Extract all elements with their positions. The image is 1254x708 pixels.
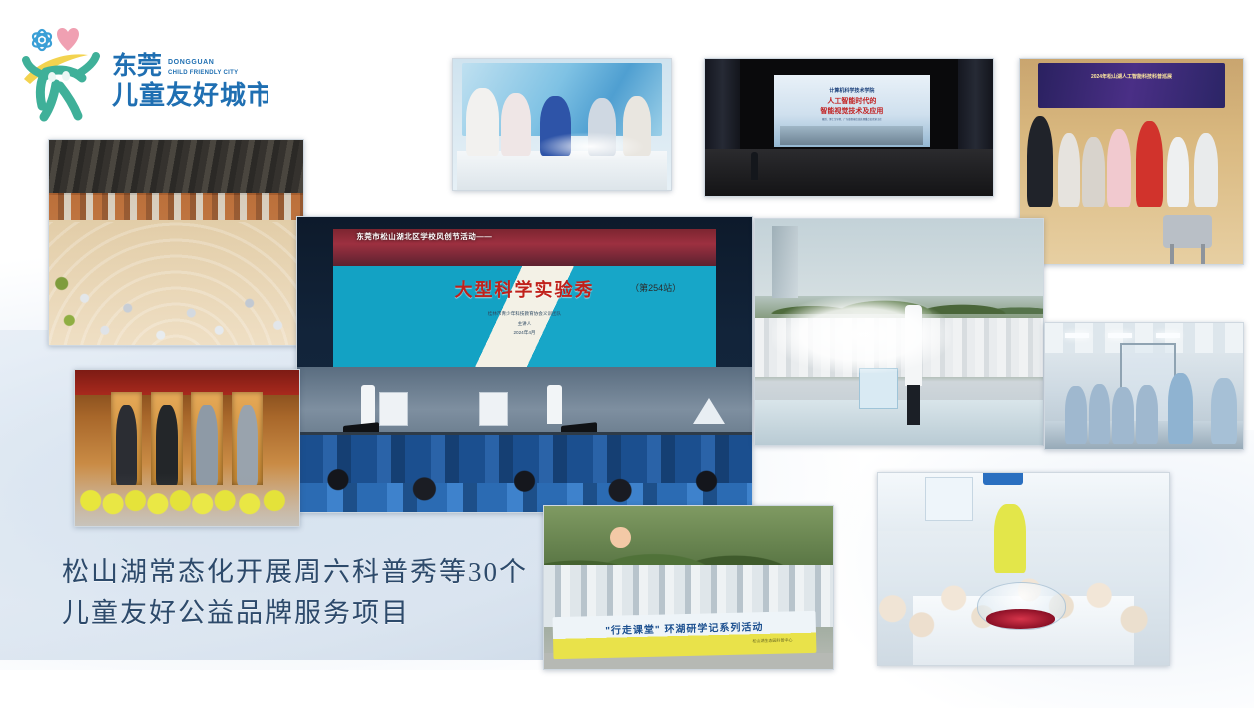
child-figure-icon	[26, 56, 96, 117]
study-trip-banner-text: "行走课堂" 环湖研学记系列活动	[552, 616, 815, 637]
robot-banner-text: 2024年松山湖人工智能科技科普巡展	[1020, 73, 1243, 80]
photo-gymnasium-science-fair[interactable]	[48, 139, 304, 346]
logo-en-line2: CHILD FRIENDLY CITY	[168, 70, 238, 76]
figure-eye-left	[48, 72, 56, 82]
ai-slide-title: 人工智能时代的 智能视觉技术及应用	[774, 97, 930, 118]
photo-dry-ice-classroom-demo[interactable]	[452, 58, 672, 191]
logo-en-line1: DONGGUAN	[168, 59, 214, 66]
show-slide-header: 东莞市松山湖北区学校风创节活动——	[356, 231, 492, 242]
study-trip-banner-sub: 松山湖生态园科普中心	[752, 637, 792, 644]
figure-eye-right	[62, 71, 70, 81]
show-slide-sub: 桂林市青少年科技教育协会义训团队 主讲人 2024年4月	[333, 309, 715, 338]
photo-outdoor-fog-experiment[interactable]	[754, 218, 1044, 446]
slide-caption: 松山湖常态化开展周六科普秀等30个 儿童友好公益品牌服务项目	[62, 552, 542, 634]
logo-cn-line2: 儿童友好城市	[112, 80, 268, 110]
logo-cn-line1: 东莞	[112, 51, 162, 80]
ai-slide-institute: 计算机科学技术学院	[774, 87, 930, 94]
photo-large-science-show-auditorium[interactable]: 东莞市松山湖北区学校风创节活动—— 大型科学实验秀 （第254站） 桂林市青少年…	[296, 216, 753, 513]
ai-slide-note: 教授、博士生导师、广东省智能信息处理重点实验室主任	[787, 118, 918, 122]
photo-cleanroom-factory-tour[interactable]	[1044, 322, 1244, 450]
atom-nucleus	[40, 38, 45, 43]
photo-plasma-ball-exhibit[interactable]	[877, 472, 1170, 666]
slide-canvas: 东莞 DONGGUAN CHILD FRIENDLY CITY 儿童友好城市	[0, 0, 1254, 708]
brand-logo: 东莞 DONGGUAN CHILD FRIENDLY CITY 儿童友好城市	[16, 24, 268, 124]
photo-ai-lecture-auditorium[interactable]: 计算机科学技术学院 人工智能时代的 智能视觉技术及应用 教授、博士生导师、广东省…	[704, 58, 994, 197]
heart-icon	[57, 28, 79, 51]
photo-robot-dog-demo[interactable]: 2024年松山湖人工智能科技科普巡展	[1019, 58, 1244, 265]
show-slide-station: （第254站）	[630, 281, 681, 294]
photo-lakeside-study-trip-group[interactable]: "行走课堂" 环湖研学记系列活动 松山湖生态园科普中心	[543, 505, 834, 670]
photo-fire-safety-exhibit-visit[interactable]	[74, 369, 300, 527]
